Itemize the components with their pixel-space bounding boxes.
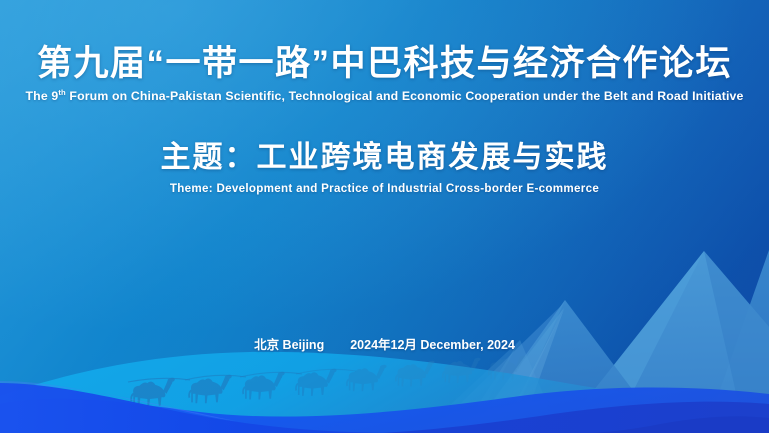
ordinal-superscript: th (58, 88, 65, 97)
theme-title-cn: 主题：工业跨境电商发展与实践 (0, 132, 769, 176)
theme-title-en: Theme: Development and Practice of Indus… (0, 182, 769, 195)
event-date: 2024年12月 December, 2024 (350, 338, 515, 352)
subtitle-en-pre: The 9 (26, 89, 59, 103)
page-title: 第九届“一带一路”中巴科技与经济合作论坛 (0, 44, 769, 83)
subtitle-en-post: Forum on China-Pakistan Scientific, Tech… (66, 89, 744, 103)
poster-text-block: 第九届“一带一路”中巴科技与经济合作论坛 The 9th Forum on Ch… (0, 0, 769, 195)
forum-poster: 第九届“一带一路”中巴科技与经济合作论坛 The 9th Forum on Ch… (0, 0, 769, 433)
event-location: 北京 Beijing (254, 338, 324, 352)
page-subtitle-en: The 9th Forum on China-Pakistan Scientif… (0, 88, 769, 103)
event-footer: 北京 Beijing2024年12月 December, 2024 (0, 334, 769, 353)
